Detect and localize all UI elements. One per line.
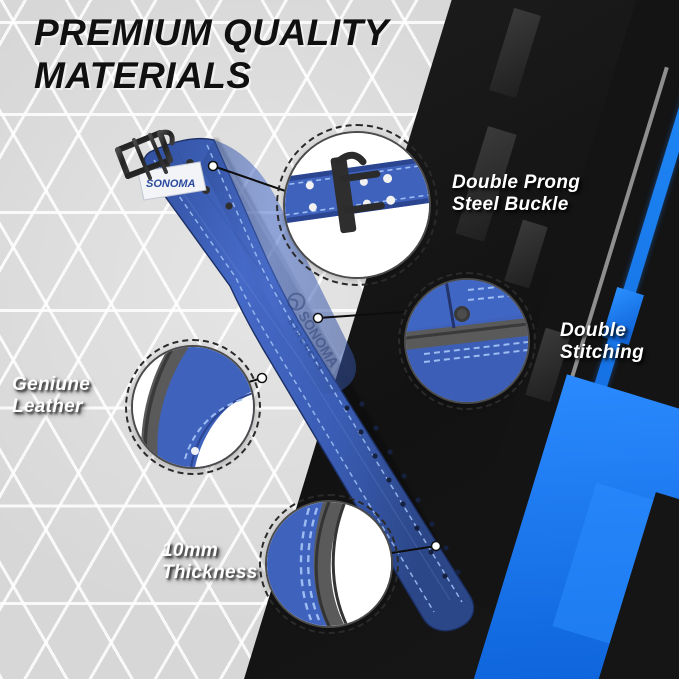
feature-label-10mm-thickness: 10mm Thickness (162, 540, 258, 585)
connector-dot-stitching (314, 314, 323, 323)
thickness-detail-circle (265, 500, 393, 628)
connector-dot-leather (258, 374, 267, 383)
feature-label-geniune-leather: Geniune Leather (12, 374, 90, 419)
connector-dot-buckle (209, 162, 218, 171)
feature-label-double-stitching: Double Stitching (560, 320, 644, 365)
infographic-canvas: PREMIUM QUALITY MATERIALS (0, 0, 679, 679)
keeper-brand-text: SONOMA (146, 178, 196, 190)
feature-label-double-prong-steel-buckle: Double Prong Steel Buckle (452, 172, 580, 217)
leather-detail-circle (131, 345, 255, 469)
buckle-detail-circle (283, 131, 431, 279)
connector-dot-thickness (432, 542, 441, 551)
stitching-detail-circle (404, 278, 530, 404)
